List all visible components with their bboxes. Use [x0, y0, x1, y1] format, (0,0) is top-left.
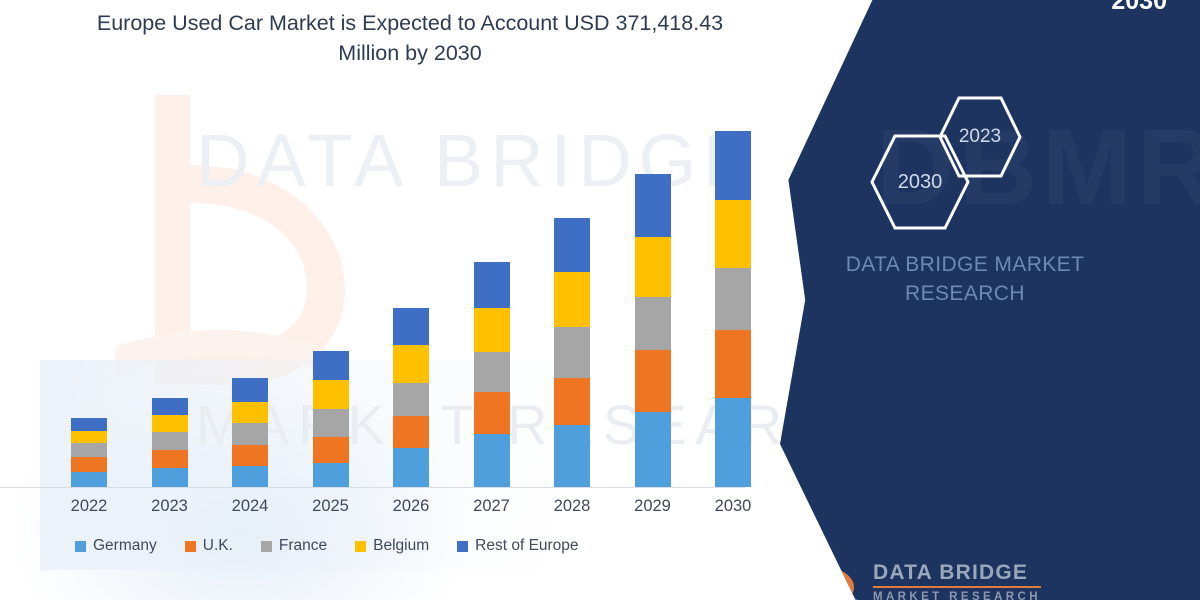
bar-segment-rest-of-europe-2030: [715, 131, 751, 200]
bar-segment-france-2024: [232, 423, 268, 445]
hexagon-2023-label: 2023: [959, 126, 1001, 148]
bar-segment-belgium-2027: [474, 308, 510, 352]
dbmr-logo-title: DATA BRIDGE: [873, 561, 1041, 584]
dbmr-logo-rule: [873, 586, 1041, 588]
bar-segment-rest-of-europe-2027: [474, 262, 510, 308]
bar-segment-u-k-2022: [71, 457, 107, 472]
bar-segment-belgium-2028: [554, 272, 590, 327]
infographic-canvas: DATA BRIDGE MARKET RESEARCH Europe Used …: [0, 0, 1200, 600]
legend-swatch-icon: [261, 541, 272, 552]
bar-group-2028: [554, 218, 590, 487]
hexagon-2023: 2023: [938, 95, 1022, 179]
bar-segment-belgium-2024: [232, 402, 268, 423]
x-axis-label-2026: 2026: [376, 497, 446, 516]
bar-segment-france-2029: [635, 297, 671, 350]
bar-segment-belgium-2023: [152, 415, 188, 432]
legend-swatch-icon: [457, 541, 468, 552]
bar-segment-germany-2025: [313, 463, 349, 487]
bar-segment-u-k-2030: [715, 330, 751, 398]
x-axis-label-2029: 2029: [618, 497, 688, 516]
bar-group-2027: [474, 262, 510, 487]
plot-area: [40, 110, 780, 487]
bar-group-2025: [313, 351, 349, 487]
bar-segment-u-k-2023: [152, 450, 188, 468]
hexagon-2030-label: 2030: [898, 171, 943, 194]
bar-group-2024: [232, 378, 268, 487]
bar-segment-rest-of-europe-2022: [71, 418, 107, 431]
bar-segment-belgium-2029: [635, 237, 671, 297]
chart-panel: DATA BRIDGE MARKET RESEARCH Europe Used …: [0, 0, 880, 600]
bar-segment-belgium-2025: [313, 380, 349, 409]
legend-item-rest-of-europe[interactable]: Rest of Europe: [457, 537, 578, 555]
bar-segment-france-2022: [71, 443, 107, 457]
bar-segment-rest-of-europe-2025: [313, 351, 349, 380]
brand-name: DATA BRIDGE MARKET RESEARCH: [830, 250, 1100, 308]
legend-swatch-icon: [75, 541, 86, 552]
bar-segment-france-2025: [313, 409, 349, 437]
bar-segment-germany-2028: [554, 425, 590, 487]
x-axis-label-2024: 2024: [215, 497, 285, 516]
bar-segment-germany-2030: [715, 398, 751, 487]
legend-item-belgium[interactable]: Belgium: [355, 537, 429, 555]
x-axis-label-2028: 2028: [537, 497, 607, 516]
bar-segment-rest-of-europe-2023: [152, 398, 188, 415]
bar-group-2029: [635, 174, 671, 487]
x-axis-labels: 202220232024202520262027202820292030: [40, 497, 780, 521]
legend-label: Rest of Europe: [475, 537, 578, 555]
hexagon-group: 2030 2023: [860, 95, 1110, 235]
bar-segment-u-k-2024: [232, 445, 268, 466]
x-axis-label-2027: 2027: [457, 497, 527, 516]
bar-segment-u-k-2026: [393, 416, 429, 448]
bar-segment-germany-2023: [152, 468, 188, 487]
bar-segment-u-k-2028: [554, 378, 590, 425]
bar-segment-germany-2027: [474, 434, 510, 487]
bar-segment-u-k-2029: [635, 350, 671, 412]
legend-swatch-icon: [185, 541, 196, 552]
stacked-bar-chart: [40, 110, 780, 490]
legend-label: U.K.: [203, 537, 233, 555]
legend-item-u-k[interactable]: U.K.: [185, 537, 233, 555]
bar-segment-germany-2029: [635, 412, 671, 487]
bar-segment-u-k-2027: [474, 392, 510, 434]
page-title: Europe Used Car Market is Expected to Ac…: [70, 8, 750, 68]
bar-segment-rest-of-europe-2024: [232, 378, 268, 402]
panel-year-kicker: 2030: [1111, 0, 1167, 16]
bar-segment-germany-2026: [393, 448, 429, 487]
dbmr-logo-subtitle: MARKET RESEARCH: [873, 590, 1041, 600]
x-axis-line: [0, 487, 745, 488]
bar-segment-belgium-2022: [71, 431, 107, 443]
bar-group-2030: [715, 131, 751, 487]
bar-segment-france-2030: [715, 268, 751, 330]
bar-segment-rest-of-europe-2026: [393, 308, 429, 345]
x-axis-label-2023: 2023: [135, 497, 205, 516]
bar-segment-france-2028: [554, 327, 590, 378]
x-axis-label-2025: 2025: [296, 497, 366, 516]
bar-segment-belgium-2030: [715, 200, 751, 268]
bar-segment-france-2023: [152, 432, 188, 450]
bar-segment-france-2026: [393, 383, 429, 416]
bar-group-2022: [71, 418, 107, 487]
legend-swatch-icon: [355, 541, 366, 552]
bar-group-2023: [152, 398, 188, 487]
legend-label: Belgium: [373, 537, 429, 555]
bar-segment-rest-of-europe-2029: [635, 174, 671, 237]
bar-segment-germany-2024: [232, 466, 268, 487]
bar-segment-belgium-2026: [393, 345, 429, 383]
legend-item-france[interactable]: France: [261, 537, 327, 555]
bar-segment-france-2027: [474, 352, 510, 392]
brand-panel: DBMR 2030 2030 2023 DATA BRIDGE MARKET R…: [780, 0, 1200, 600]
chart-legend: GermanyU.K.FranceBelgiumRest of Europe: [75, 537, 579, 555]
x-axis-label-2030: 2030: [698, 497, 768, 516]
legend-label: France: [279, 537, 327, 555]
bar-segment-rest-of-europe-2028: [554, 218, 590, 272]
x-axis-label-2022: 2022: [54, 497, 124, 516]
bar-segment-germany-2022: [71, 472, 107, 487]
legend-item-germany[interactable]: Germany: [75, 537, 157, 555]
bar-segment-u-k-2025: [313, 437, 349, 463]
legend-label: Germany: [93, 537, 157, 555]
bar-group-2026: [393, 308, 429, 487]
